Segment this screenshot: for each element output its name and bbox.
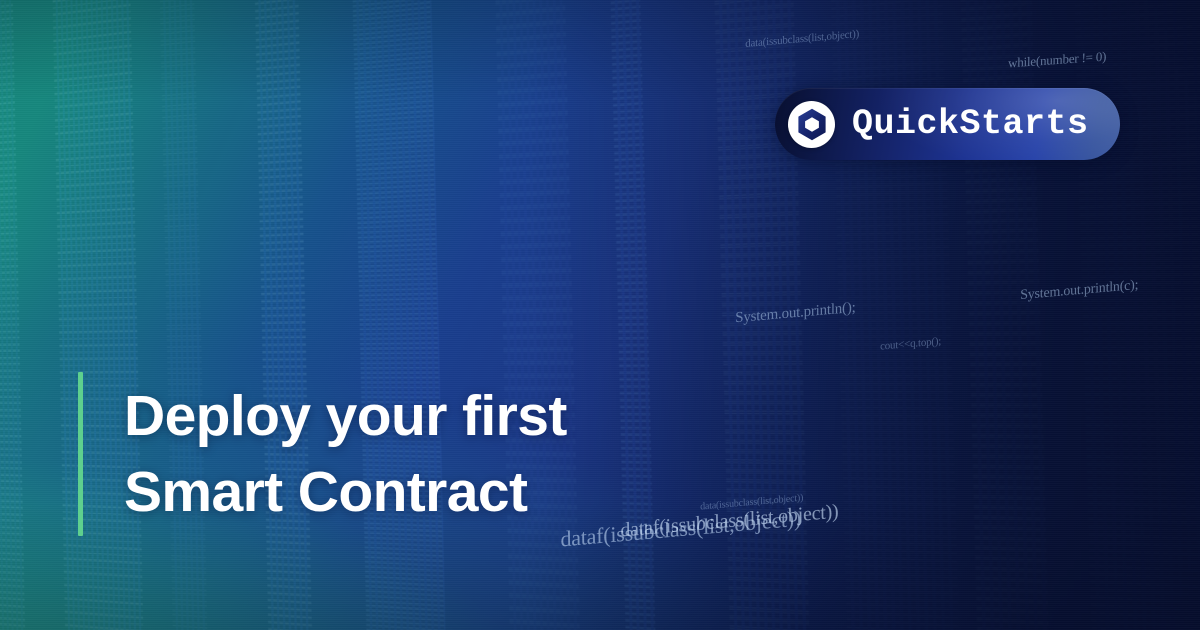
page-title: Deploy your first Smart Contract	[124, 372, 567, 536]
quickstarts-banner: System.out.println(); System.out.println…	[0, 0, 1200, 630]
accent-bar	[78, 372, 83, 536]
headline-line-2: Smart Contract	[124, 454, 567, 530]
headline-line-1: Deploy your first	[124, 378, 567, 454]
badge-label: QuickStarts	[852, 107, 1089, 142]
quickstarts-badge[interactable]: QuickStarts	[775, 88, 1120, 160]
headline-block: Deploy your first Smart Contract	[78, 372, 567, 536]
chainlink-hexagon-icon	[788, 101, 835, 148]
